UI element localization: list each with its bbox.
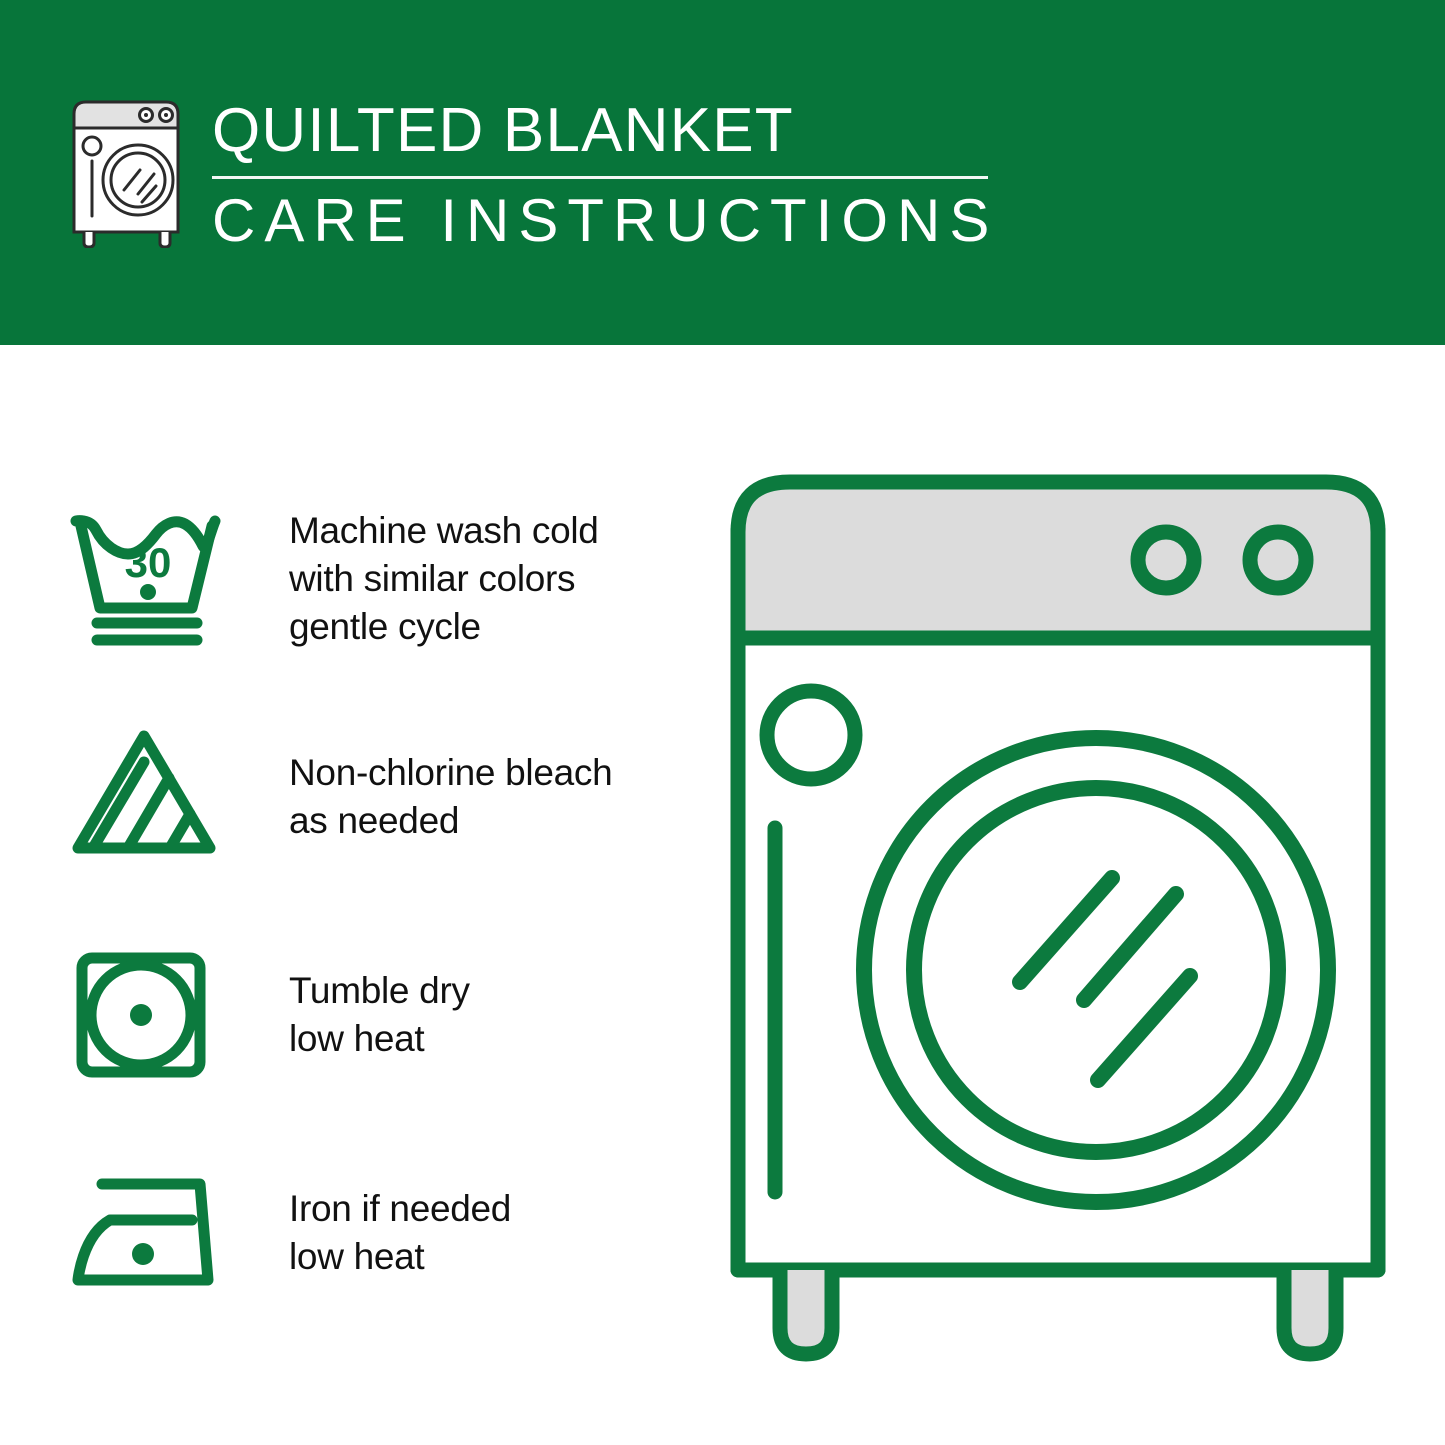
care-row-bleach: Non-chlorine bleach as needed: [62, 688, 702, 906]
page-title: QUILTED BLANKET: [212, 100, 1028, 162]
care-row-iron: Iron if needed low heat: [62, 1124, 702, 1342]
wash-tub-30-icon: 30: [62, 499, 237, 659]
care-line: low heat: [289, 1233, 702, 1281]
header-band: QUILTED BLANKET CARE INSTRUCTIONS: [0, 0, 1445, 345]
title-divider-rule: [212, 176, 988, 179]
bleach-triangle-icon: [62, 717, 237, 877]
care-line: gentle cycle: [289, 603, 702, 651]
care-line: Tumble dry: [289, 967, 702, 1015]
iron-low-heat-icon: [62, 1153, 237, 1313]
care-text-bleach: Non-chlorine bleach as needed: [237, 749, 702, 845]
care-text-machine-wash: Machine wash cold with similar colors ge…: [237, 507, 702, 651]
care-text-iron: Iron if needed low heat: [237, 1185, 702, 1281]
care-line: Non-chlorine bleach: [289, 749, 702, 797]
detergent-indicator-circle: [767, 691, 855, 779]
care-instructions-page: QUILTED BLANKET CARE INSTRUCTIONS 30: [0, 0, 1445, 1445]
care-line: Iron if needed: [289, 1185, 702, 1233]
care-row-tumble-dry: Tumble dry low heat: [62, 906, 702, 1124]
knob-left: [1138, 532, 1194, 588]
wash-temperature-label: 30: [124, 539, 171, 586]
knob-right: [1250, 532, 1306, 588]
leg-left: [780, 1270, 832, 1354]
care-line: low heat: [289, 1015, 702, 1063]
drum-inner-ring: [914, 788, 1278, 1152]
front-load-washing-machine-illustration: [718, 470, 1398, 1370]
header-title-block: QUILTED BLANKET CARE INSTRUCTIONS: [212, 98, 1028, 251]
page-subtitle: CARE INSTRUCTIONS: [212, 191, 1028, 251]
tumble-dry-low-icon: [62, 935, 237, 1095]
header-content: QUILTED BLANKET CARE INSTRUCTIONS: [68, 98, 1028, 263]
care-instruction-list: 30 Machine wash cold with similar colors…: [62, 470, 702, 1342]
care-line: as needed: [289, 797, 702, 845]
care-line: Machine wash cold: [289, 507, 702, 555]
leg-right: [1284, 1270, 1336, 1354]
washing-machine-logo-icon: [68, 98, 190, 248]
care-row-machine-wash: 30 Machine wash cold with similar colors…: [62, 470, 702, 688]
care-line: with similar colors: [289, 555, 702, 603]
care-text-tumble-dry: Tumble dry low heat: [237, 967, 702, 1063]
